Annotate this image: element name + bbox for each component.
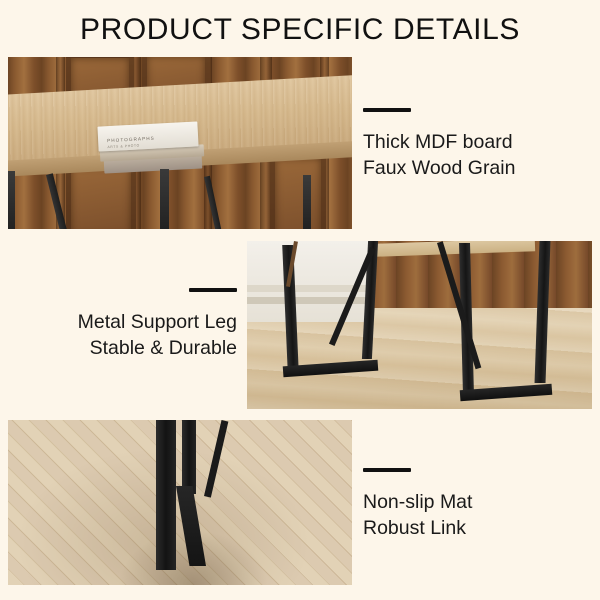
- wall-surface: [247, 241, 371, 322]
- cabinet-panel: [270, 153, 326, 229]
- caption-line: Stable & Durable: [37, 335, 237, 361]
- caption-line: Robust Link: [363, 515, 472, 541]
- caption-line: Thick MDF board: [363, 129, 515, 155]
- table-metal-leg: [160, 169, 169, 229]
- caption-dash: [189, 288, 237, 292]
- product-detail-page: PRODUCT SPECIFIC DETAILS PHOTOGRAPHS: [0, 0, 600, 600]
- table-metal-leg: [303, 175, 311, 229]
- book-top: PHOTOGRAPHS ARTS & PHOTO: [97, 121, 198, 151]
- book-title-text: PHOTOGRAPHS: [107, 136, 155, 143]
- table-leg-back: [182, 420, 196, 494]
- caption-block-3: Non-slip Mat Robust Link: [363, 468, 472, 541]
- book-subtitle-text: ARTS & PHOTO: [107, 143, 139, 149]
- table-leg-front: [156, 420, 176, 570]
- product-photo-non-slip-mat: [8, 420, 352, 585]
- caption-line: Faux Wood Grain: [363, 155, 515, 181]
- page-title: PRODUCT SPECIFIC DETAILS: [0, 13, 600, 47]
- product-photo-support-leg: [247, 241, 592, 409]
- caption-line: Non-slip Mat: [363, 489, 472, 515]
- caption-block-1: Thick MDF board Faux Wood Grain: [363, 108, 515, 181]
- caption-dash: [363, 108, 411, 112]
- product-photo-tabletop: PHOTOGRAPHS ARTS & PHOTO: [8, 57, 352, 229]
- caption-line: Metal Support Leg: [37, 309, 237, 335]
- table-metal-leg: [8, 171, 15, 229]
- caption-dash: [363, 468, 411, 472]
- caption-block-2: Metal Support Leg Stable & Durable: [37, 288, 237, 361]
